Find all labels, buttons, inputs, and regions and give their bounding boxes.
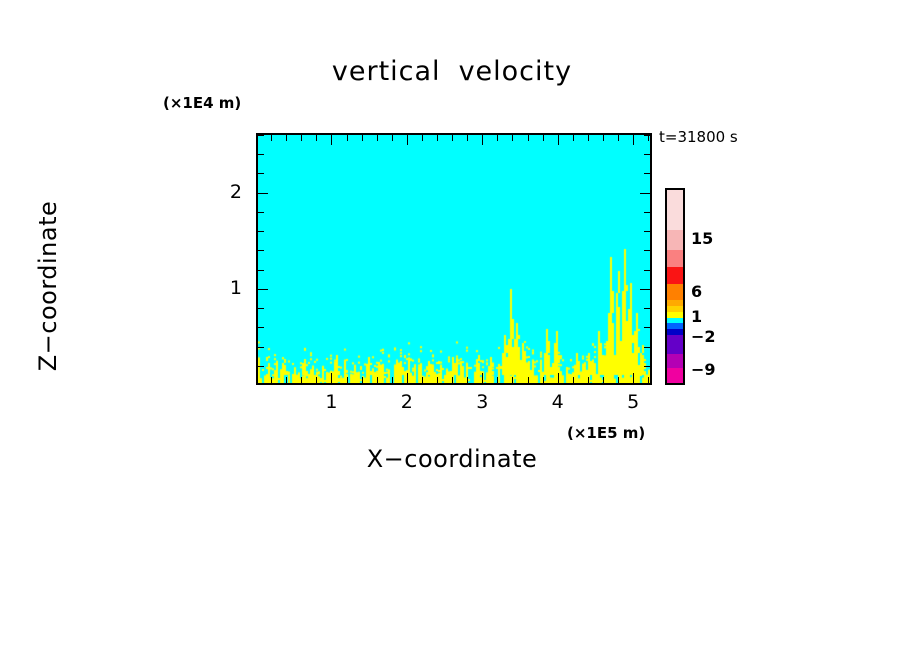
colorbar-band-11 [667, 335, 683, 354]
tick-mark [512, 135, 513, 141]
tick-mark [573, 377, 574, 383]
colorbar-band-0 [667, 190, 683, 230]
colorbar-label-0: 15 [691, 229, 713, 248]
plot-area [256, 133, 652, 385]
colorbar-band-13 [667, 368, 683, 383]
tick-mark [258, 366, 264, 367]
colorbar-label-2: 1 [691, 307, 702, 326]
colorbar-band-1 [667, 230, 683, 250]
tick-mark [258, 270, 264, 271]
colorbar-label-1: 6 [691, 282, 702, 301]
colorbar-band-2 [667, 250, 683, 266]
tick-mark [633, 135, 634, 145]
tick-mark [271, 135, 272, 141]
colorbar-band-12 [667, 354, 683, 367]
tick-mark [258, 135, 264, 136]
tick-mark [497, 377, 498, 383]
timestamp-annotation: t=31800 s [659, 128, 738, 146]
tick-mark [258, 347, 264, 348]
tick-mark [258, 327, 264, 328]
tick-mark [377, 135, 378, 141]
tick-mark [644, 347, 650, 348]
tick-mark [644, 212, 650, 213]
colorbar-band-3 [667, 267, 683, 284]
tick-mark [644, 270, 650, 271]
tick-mark [497, 135, 498, 141]
x-axis-unit-label: (×1E5 m) [567, 424, 645, 442]
chart-title: verticalvelocity [0, 56, 904, 87]
tick-mark [644, 366, 650, 367]
tick-mark [271, 377, 272, 383]
x-tick-label-2: 3 [462, 391, 502, 413]
tick-mark [377, 377, 378, 383]
tick-mark [258, 289, 268, 290]
chart-title-word-2: velocity [459, 56, 573, 87]
tick-mark [618, 377, 619, 383]
tick-mark [644, 135, 650, 136]
tick-mark [482, 135, 483, 145]
colorbar [665, 188, 685, 385]
tick-mark [573, 135, 574, 141]
tick-mark [286, 377, 287, 383]
tick-mark [407, 135, 408, 145]
y-tick-label-1: 2 [216, 181, 242, 203]
tick-mark [331, 373, 332, 383]
tick-mark [331, 135, 332, 145]
tick-mark [452, 377, 453, 383]
tick-mark [644, 231, 650, 232]
tick-mark [644, 154, 650, 155]
tick-mark [362, 377, 363, 383]
tick-mark [286, 135, 287, 141]
tick-mark [258, 231, 264, 232]
tick-mark [588, 377, 589, 383]
tick-mark [644, 250, 650, 251]
colorbar-label-3: −2 [691, 327, 716, 346]
tick-mark [558, 135, 559, 145]
tick-mark [588, 135, 589, 141]
tick-mark [422, 377, 423, 383]
tick-mark [482, 373, 483, 383]
tick-mark [644, 173, 650, 174]
colorbar-band-4 [667, 284, 683, 300]
tick-mark [528, 377, 529, 383]
tick-mark [640, 193, 650, 194]
tick-mark [258, 308, 264, 309]
colorbar-label-4: −9 [691, 360, 716, 379]
tick-mark [316, 135, 317, 141]
tick-mark [301, 135, 302, 141]
tick-mark [543, 377, 544, 383]
tick-mark [603, 377, 604, 383]
tick-mark [437, 135, 438, 141]
x-tick-label-4: 5 [613, 391, 653, 413]
tick-mark [528, 135, 529, 141]
tick-mark [258, 250, 264, 251]
tick-mark [648, 377, 649, 383]
tick-mark [618, 135, 619, 141]
tick-mark [633, 373, 634, 383]
tick-mark [392, 377, 393, 383]
tick-mark [347, 377, 348, 383]
tick-mark [362, 135, 363, 141]
tick-mark [392, 135, 393, 141]
tick-mark [467, 377, 468, 383]
tick-mark [640, 289, 650, 290]
y-tick-label-0: 1 [216, 277, 242, 299]
tick-mark [644, 308, 650, 309]
figure-root: verticalvelocity (×1E4 m) t=31800 s 1234… [0, 0, 904, 654]
x-tick-label-3: 4 [538, 391, 578, 413]
velocity-field-canvas [258, 135, 650, 383]
tick-mark [347, 135, 348, 141]
tick-mark [437, 377, 438, 383]
y-axis-title: Z−coordinate [34, 176, 62, 396]
tick-mark [467, 135, 468, 141]
tick-mark [543, 135, 544, 141]
tick-mark [258, 193, 268, 194]
tick-mark [512, 377, 513, 383]
tick-mark [301, 377, 302, 383]
tick-mark [407, 373, 408, 383]
tick-mark [316, 377, 317, 383]
tick-mark [452, 135, 453, 141]
y-axis-unit-label: (×1E4 m) [163, 94, 241, 112]
chart-title-word-1: vertical [332, 56, 441, 87]
tick-mark [422, 135, 423, 141]
x-tick-label-0: 1 [311, 391, 351, 413]
tick-mark [258, 154, 264, 155]
tick-mark [558, 373, 559, 383]
tick-mark [258, 212, 264, 213]
x-tick-label-1: 2 [387, 391, 427, 413]
tick-mark [603, 135, 604, 141]
tick-mark [258, 173, 264, 174]
tick-mark [644, 327, 650, 328]
x-axis-title: X−coordinate [0, 445, 904, 473]
